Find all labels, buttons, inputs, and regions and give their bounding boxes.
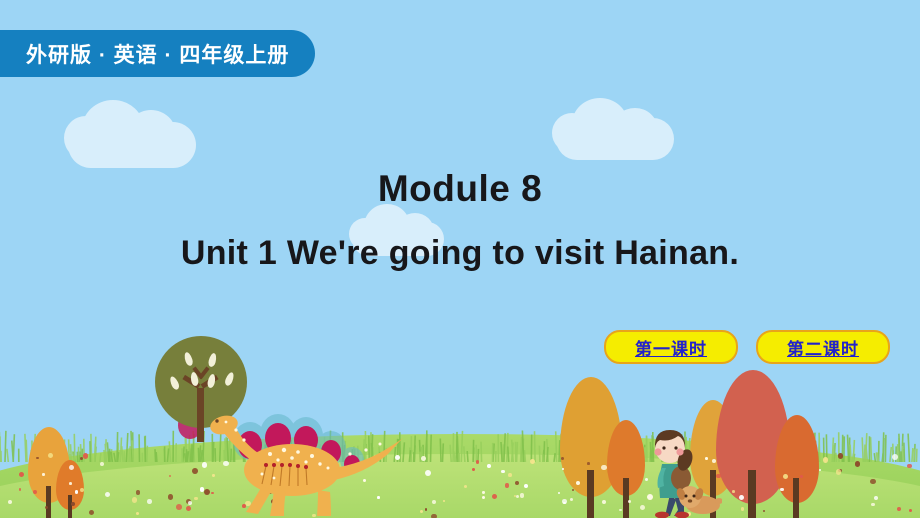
bush-gold-left-trunk [46,486,51,518]
flower-dot [783,474,788,479]
flower-dot [508,473,512,477]
flower-dot [45,506,48,509]
textbook-badge-label: 外研版 · 英语 · 四年级上册 [26,39,289,69]
flower-dot [168,494,173,499]
flower-dot [19,488,22,491]
flower-dot [71,502,75,506]
dog-illustration [676,481,722,515]
flower-dot [732,490,735,493]
dino-leg-front-far [246,486,272,514]
dino-leg-back [317,490,331,516]
flower-dot [530,459,535,464]
flower-dot [514,495,516,497]
flower-dot [482,496,485,499]
dino-eye [215,419,218,422]
lesson-2-label: 第二课时 [787,335,859,360]
girl-eye-left [662,446,665,449]
flower-dot [132,497,137,502]
flower-dot [42,473,44,475]
flower-dot [194,497,197,500]
flower-dot [716,474,721,479]
cloud-icon-right [556,118,674,160]
tree-salmon-trunk [748,470,756,518]
dog-eye-right [693,495,696,498]
flower-dot [558,492,560,494]
flower-dot [169,475,171,477]
dog-eye-left [685,495,688,498]
tree-orange-trunk [623,478,629,518]
flower-dot [425,470,431,476]
flower-dot [80,488,84,492]
flower-dot [186,506,191,511]
lesson-button-group: 第一课时 第二课时 [604,330,890,364]
flower-dot [628,500,631,503]
flower-dot [712,459,716,463]
flower-dot [705,457,708,460]
girl-eye-right [674,446,677,449]
flower-dot [105,492,110,497]
flower-dot [75,490,79,494]
flower-dot [505,483,510,488]
flower-dot [192,468,198,474]
flower-dot [855,461,860,466]
flower-dot [69,465,74,470]
flower-dot [420,510,423,513]
flower-dot [780,488,784,492]
flower-dot [587,462,590,465]
flower-dot [482,491,484,493]
flower-dot [464,485,467,488]
flower-dot [572,489,574,491]
tree-gold-trunk [587,470,594,518]
lesson-1-label: 第一课时 [635,335,707,360]
tree-rust-trunk [793,478,799,518]
flower-dot [520,493,524,497]
lesson-2-button[interactable]: 第二课时 [756,330,890,364]
bush-orange-left-trunk [68,495,72,518]
flower-dot [836,469,841,474]
cloud-icon-left [68,122,196,168]
unit-title: Unit 1 We're going to visit Hainan. [0,234,920,273]
flower-dot [431,514,437,518]
slide-canvas: 外研版 · 英语 · 四年级上册 Module 8 Unit 1 We're g… [0,0,920,518]
flower-dot [561,457,564,460]
flower-dot [576,481,580,485]
flower-dot [515,481,519,485]
flower-dot [487,464,491,468]
girl-cheek-right [676,448,683,455]
flower-dot [432,500,436,504]
flower-dot [33,490,37,494]
textbook-badge: 外研版 · 英语 · 四年级上册 [0,30,315,77]
flower-dot [36,457,38,459]
flower-dot [421,456,426,461]
dino-leg-front [270,490,286,516]
girl-cheek-left [654,448,661,455]
flower-dot [823,457,828,462]
flower-dot [800,475,803,478]
flower-dot [176,504,182,510]
flower-dot [472,468,475,471]
dog-nose [688,499,692,502]
dino-body [244,444,340,496]
flower-dot [892,454,898,460]
flower-dot [897,507,901,511]
lesson-1-button[interactable]: 第一课时 [604,330,738,364]
module-title: Module 8 [0,168,920,210]
flower-dot [492,494,497,499]
flower-dot [838,453,843,458]
dinosaur-illustration [200,408,415,518]
flower-dot [874,496,878,500]
flower-dot [425,508,428,511]
